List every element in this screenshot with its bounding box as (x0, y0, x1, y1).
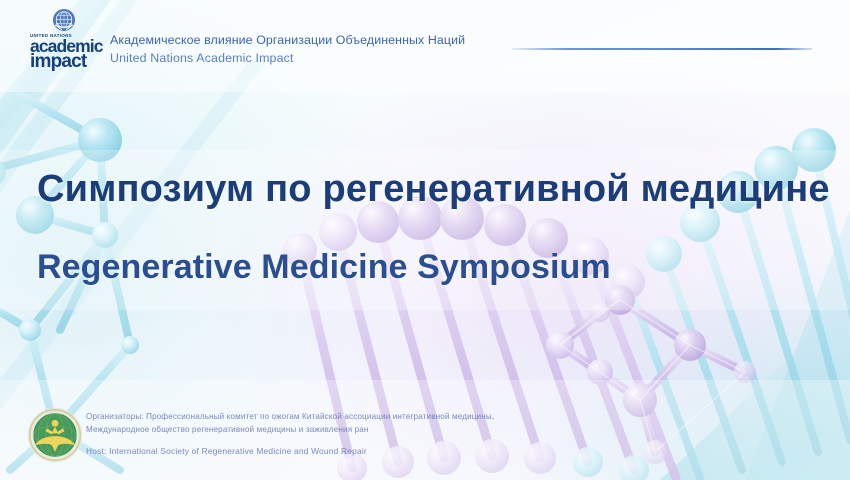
slide-footer: Организаторы: Профессиональный комитет п… (0, 402, 850, 480)
slide-header: UNITED NATIONS academic impact Академиче… (0, 0, 850, 86)
un-emblem-icon (52, 8, 76, 32)
footer-organizers-line2: Международное общество регенеративной ме… (86, 424, 494, 437)
header-title-english: United Nations Academic Impact (110, 51, 465, 67)
presentation-slide: UNITED NATIONS academic impact Академиче… (0, 0, 850, 480)
header-divider-rule (512, 48, 812, 50)
host-society-emblem-icon (27, 407, 83, 463)
slide-title-russian: Симпозиум по регенеративной медицине (37, 168, 827, 211)
footer-organizers-line1: Организаторы: Профессиональный комитет п… (86, 411, 494, 424)
footer-host-english: Host: International Society of Regenerat… (86, 445, 494, 458)
slide-title-english: Regenerative Medicine Symposium (37, 248, 827, 287)
academic-impact-wordmark: UNITED NATIONS academic impact (30, 34, 110, 71)
header-text-block: Академическое влияние Организации Объеди… (110, 33, 465, 66)
header-title-russian: Академическое влияние Организации Объеди… (110, 33, 465, 49)
footer-text-block: Организаторы: Профессиональный комитет п… (86, 411, 494, 458)
